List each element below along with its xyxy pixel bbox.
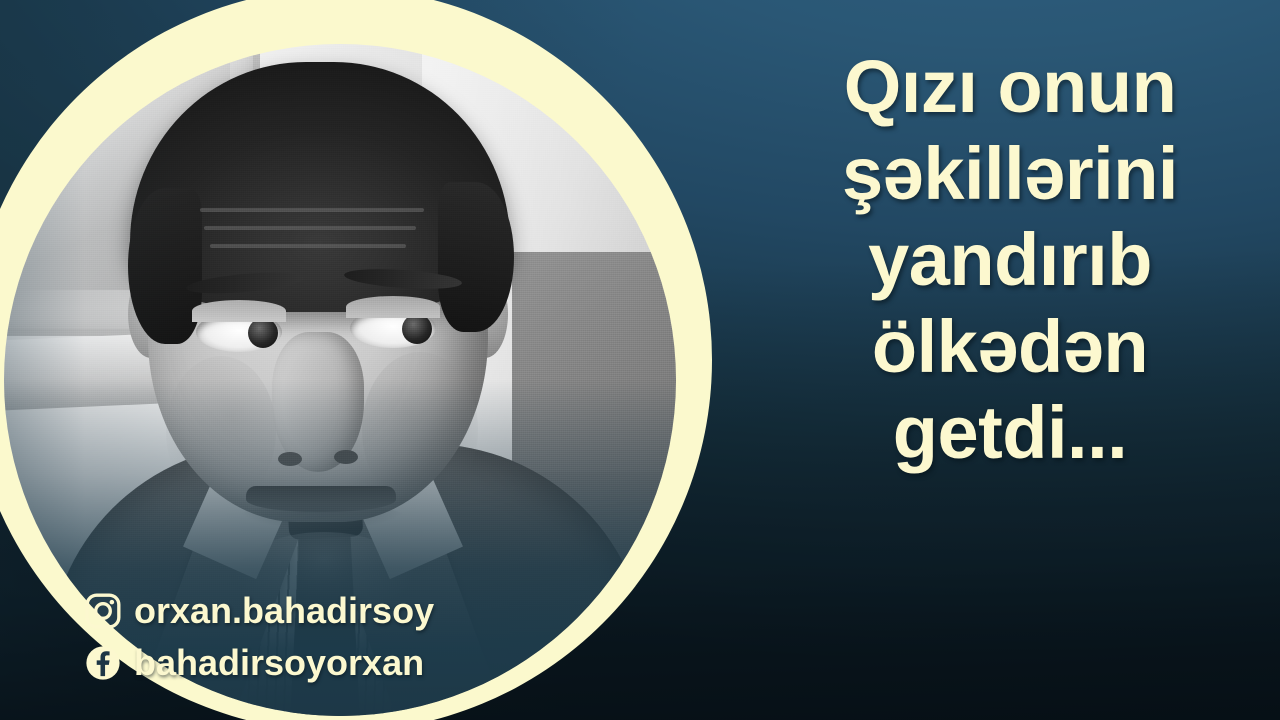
facebook-icon[interactable] (84, 644, 122, 682)
social-row-facebook[interactable]: bahadirsoyorxan (84, 642, 434, 684)
headline-line-1: Qızı onun (752, 44, 1268, 131)
headline-text: Qızı onun şəkillərini yandırıb ölkədən g… (752, 44, 1268, 477)
social-row-instagram[interactable]: orxan.bahadirsoy (84, 590, 434, 632)
headline-line-3: yandırıb (752, 217, 1268, 304)
headline-line-2: şəkillərini (752, 131, 1268, 218)
instagram-handle: orxan.bahadirsoy (134, 590, 434, 632)
headline-line-4: ölkədən (752, 304, 1268, 391)
video-thumbnail: Qızı onun şəkillərini yandırıb ölkədən g… (0, 0, 1280, 720)
headline-line-5: getdi... (752, 390, 1268, 477)
facebook-handle: bahadirsoyorxan (134, 642, 424, 684)
instagram-icon[interactable] (84, 592, 122, 630)
social-handles: orxan.bahadirsoy bahadirsoyorxan (84, 590, 434, 684)
